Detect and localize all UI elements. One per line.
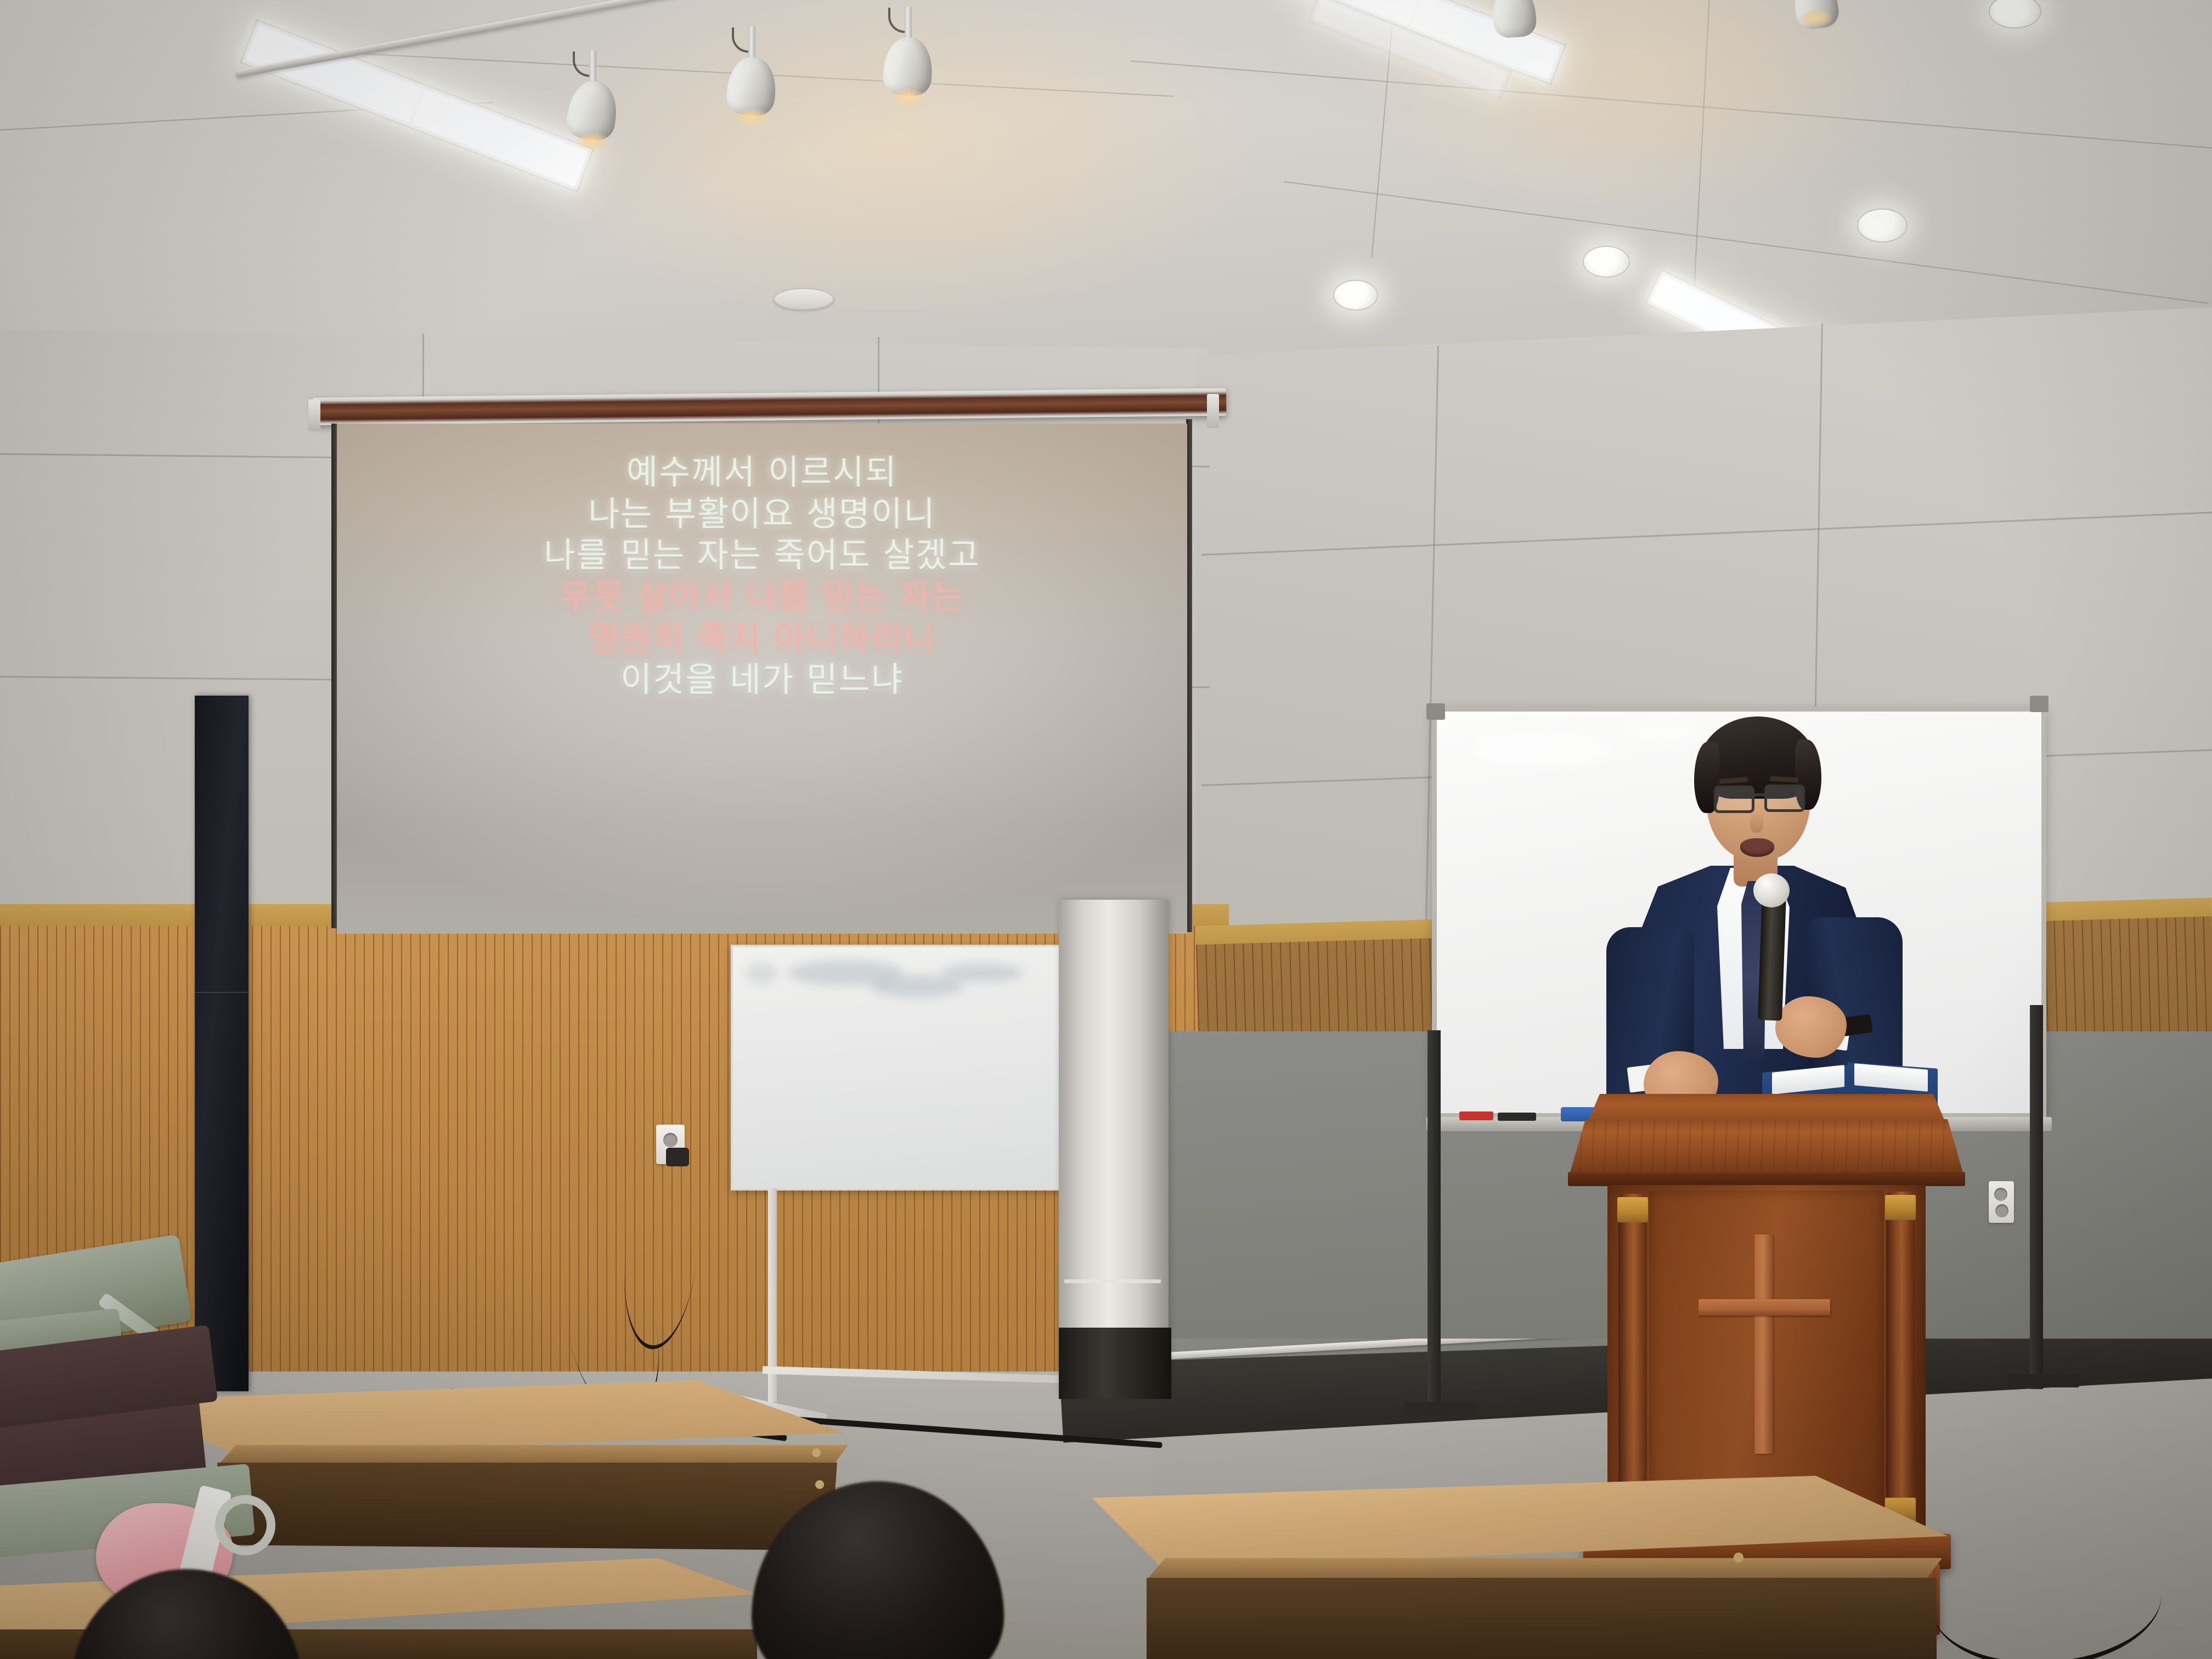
bench-apron bbox=[1147, 1578, 1937, 1659]
projected-line-4: 무릇 살아서 나를 믿는 자는 bbox=[560, 576, 964, 618]
whiteboard-corner-bracket bbox=[1426, 703, 1445, 720]
cross-emblem-horizontal bbox=[1699, 1299, 1830, 1316]
outlet-socket-hole bbox=[1994, 1188, 2007, 1201]
bench-apron bbox=[217, 1463, 837, 1550]
projected-line-2: 나는 부활이요 생명이니 bbox=[588, 493, 936, 535]
eyeglasses-lens-left bbox=[1714, 786, 1754, 813]
red-marker[interactable] bbox=[1459, 1111, 1493, 1120]
whiteboard-glare bbox=[1623, 721, 1706, 740]
structural-column bbox=[1059, 900, 1169, 1393]
whiteboard-corner-bracket bbox=[2030, 696, 2049, 712]
whiteboard-glare bbox=[1470, 733, 1612, 766]
podium-gold-band bbox=[1617, 1197, 1648, 1222]
outlet-socket-hole bbox=[1995, 1204, 2008, 1217]
bench-peg bbox=[1734, 1553, 1743, 1562]
spotlight-glow bbox=[891, 89, 924, 105]
bag-strap-ring bbox=[215, 1495, 275, 1555]
recessed-downlight bbox=[1583, 246, 1630, 278]
spotlight-glow bbox=[576, 133, 609, 149]
column-band bbox=[1064, 1279, 1161, 1283]
podium-gold-band bbox=[1885, 1195, 1916, 1220]
preacher-mouth bbox=[1740, 838, 1774, 857]
bench-front-right[interactable] bbox=[1092, 1476, 1948, 1659]
speaker-seam bbox=[195, 992, 249, 993]
projected-line-3: 나를 믿는 자는 죽어도 살겠고 bbox=[544, 534, 980, 576]
bench-edge bbox=[1147, 1558, 1942, 1580]
inner-whiteboard[interactable] bbox=[731, 945, 1071, 1190]
whiteboard-stand-leg-right bbox=[2030, 1005, 2043, 1389]
projected-line-1: 예수께서 이르시되 bbox=[627, 452, 898, 493]
bench-peg bbox=[815, 1480, 824, 1489]
microphone-head bbox=[1753, 873, 1790, 907]
outlet-socket-hole bbox=[663, 1133, 678, 1147]
whiteboard-stand-leg-left bbox=[1427, 1030, 1441, 1414]
whiteboard-smudge bbox=[745, 962, 778, 984]
projected-line-5: 영원히 죽지 아니하리니 bbox=[588, 618, 936, 659]
projection-screen-surface[interactable]: 예수께서 이르시되 나는 부활이요 생명이니 나를 믿는 자는 죽어도 살겠고 … bbox=[337, 424, 1187, 934]
sanctuary-scene: 예수께서 이르시되 나는 부활이요 생명이니 나를 믿는 자는 죽어도 살겠고 … bbox=[0, 0, 2212, 1659]
spotlight-stem bbox=[748, 26, 755, 60]
bench-peg bbox=[812, 1448, 821, 1457]
whiteboard-stand-foot bbox=[1404, 1402, 1476, 1415]
preacher-nose bbox=[1750, 811, 1763, 833]
bench-seat-top bbox=[1092, 1476, 1948, 1569]
recessed-downlight bbox=[1333, 280, 1378, 311]
podium-lip bbox=[1568, 1172, 1965, 1186]
screen-end-cap bbox=[1207, 394, 1219, 428]
spotlight-stem bbox=[589, 50, 596, 84]
spotlight-glow bbox=[1799, 10, 1832, 26]
screen-end-cap bbox=[308, 399, 320, 431]
black-marker[interactable] bbox=[1498, 1113, 1536, 1121]
eyeglasses-lens-right bbox=[1764, 785, 1805, 812]
podium-wood-grain bbox=[1569, 1119, 1964, 1176]
handheld-microphone[interactable] bbox=[1758, 894, 1786, 1020]
spotlight-shade bbox=[1491, 0, 1538, 39]
whiteboard-stand-foot bbox=[2008, 1374, 2079, 1387]
spotlight-stem bbox=[905, 7, 912, 41]
smoke-detector-icon bbox=[774, 288, 834, 310]
eyeglasses-bridge bbox=[1753, 793, 1765, 796]
recessed-downlight bbox=[1857, 208, 1908, 242]
projected-text-block: 예수께서 이르시되 나는 부활이요 생명이니 나를 믿는 자는 죽어도 살겠고 … bbox=[337, 452, 1187, 701]
projected-line-6: 이것을 네가 믿느냐 bbox=[620, 659, 904, 701]
column-base bbox=[1059, 1328, 1171, 1399]
whiteboard-smudge bbox=[870, 975, 963, 997]
wall-outlet-right[interactable] bbox=[1989, 1181, 2014, 1223]
cross-emblem-vertical bbox=[1754, 1234, 1773, 1454]
whiteboard-smudge bbox=[941, 963, 1024, 982]
spotlight-glow bbox=[735, 109, 768, 125]
podium-reading-surface bbox=[1569, 1119, 1964, 1176]
